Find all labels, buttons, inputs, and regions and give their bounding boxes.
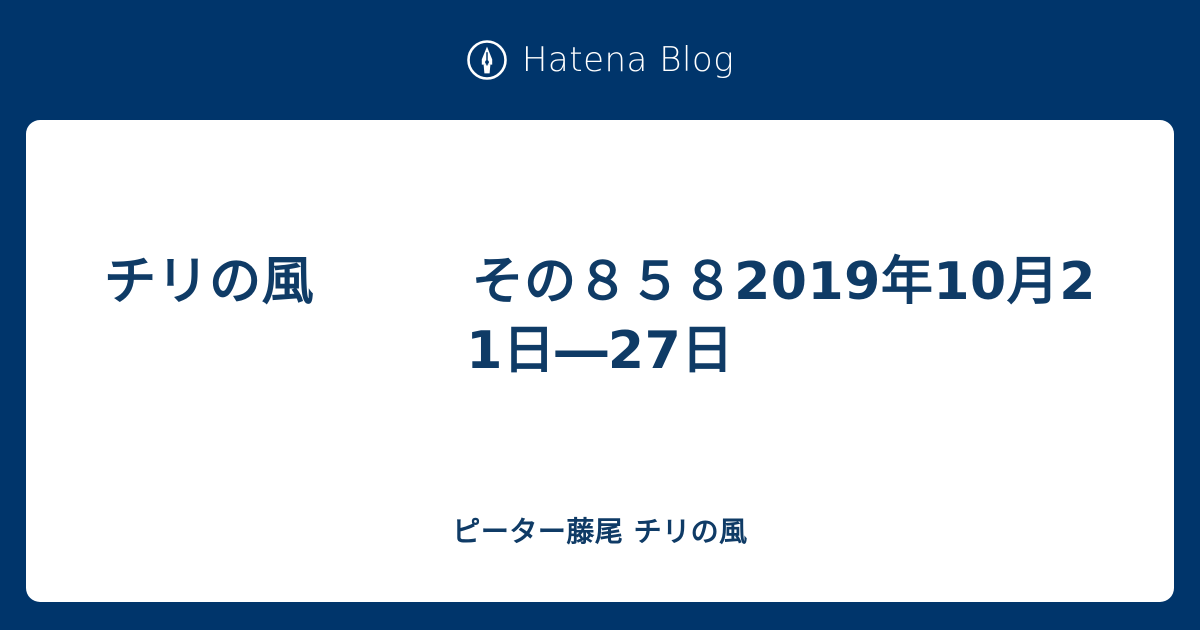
- og-image-card: Hatena Blog チリの風 その８５８2019年10月21日―27日 ピー…: [0, 0, 1200, 630]
- entry-card: チリの風 その８５８2019年10月21日―27日 ピーター藤尾 チリの風: [26, 120, 1174, 602]
- blog-name-label: ピーター藤尾 チリの風: [86, 514, 1114, 550]
- entry-title: チリの風 その８５８2019年10月21日―27日: [86, 248, 1114, 386]
- entry-card-inner: チリの風 その８５８2019年10月21日―27日 ピーター藤尾 チリの風: [26, 120, 1174, 602]
- hatena-blog-logo[interactable]: Hatena Blog: [466, 37, 734, 83]
- hatena-pen-nib-icon: [466, 39, 508, 81]
- brand-name-label: Hatena Blog: [522, 43, 734, 77]
- brand-header: Hatena Blog: [0, 0, 1200, 120]
